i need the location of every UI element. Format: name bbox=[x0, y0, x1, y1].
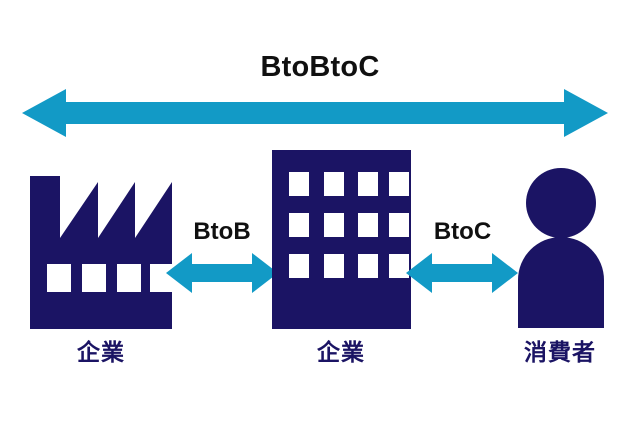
factory-icon bbox=[30, 176, 172, 329]
btob-double-arrow bbox=[166, 253, 278, 293]
btobtoc-double-arrow bbox=[22, 88, 608, 138]
btob-double-arrow-icon bbox=[166, 253, 278, 293]
btobtoc-double-arrow-icon bbox=[22, 88, 608, 138]
btob-label: BtoB bbox=[162, 218, 282, 246]
caption-factory: 企業 bbox=[41, 338, 161, 366]
caption-office: 企業 bbox=[281, 338, 401, 366]
office-building-glyph bbox=[272, 150, 411, 329]
person-glyph bbox=[516, 168, 606, 329]
diagram-canvas: BtoBtoC BtoB bbox=[0, 0, 640, 427]
person-icon bbox=[516, 168, 606, 329]
factory-glyph bbox=[30, 176, 172, 329]
btoc-double-arrow-icon bbox=[406, 253, 518, 293]
office-building-icon bbox=[272, 150, 411, 329]
btoc-double-arrow bbox=[406, 253, 518, 293]
btoc-label: BtoC bbox=[405, 218, 520, 246]
page-title: BtoBtoC bbox=[0, 50, 640, 84]
caption-consumer: 消費者 bbox=[499, 338, 621, 366]
